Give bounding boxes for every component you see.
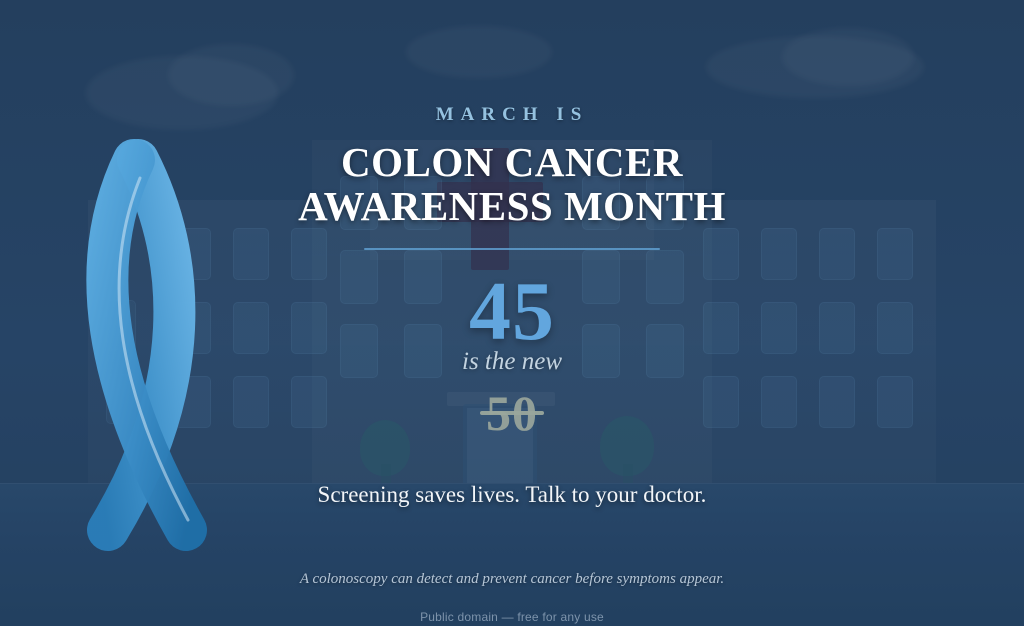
strikethrough-line [480,411,544,415]
divider-rule [364,248,660,250]
connector-text: is the new [462,348,562,376]
headline-line-1: COLON CANCER [341,139,683,185]
credit-text: Public domain — free for any use [420,610,604,624]
headline-line-2: AWARENESS MONTH [298,184,726,228]
new-age-number: 45 [469,272,555,352]
old-age-group: 50 [486,386,538,440]
kicker-text: MARCH IS [436,104,589,126]
awareness-poster: MARCH IS COLON CANCER AWARENESS MONTH 45… [0,0,1024,626]
tagline-text: Screening saves lives. Talk to your doct… [318,482,707,508]
subnote-text: A colonoscopy can detect and prevent can… [300,571,724,588]
poster-content: MARCH IS COLON CANCER AWARENESS MONTH 45… [0,0,1024,626]
page-title: COLON CANCER AWARENESS MONTH [298,140,726,228]
